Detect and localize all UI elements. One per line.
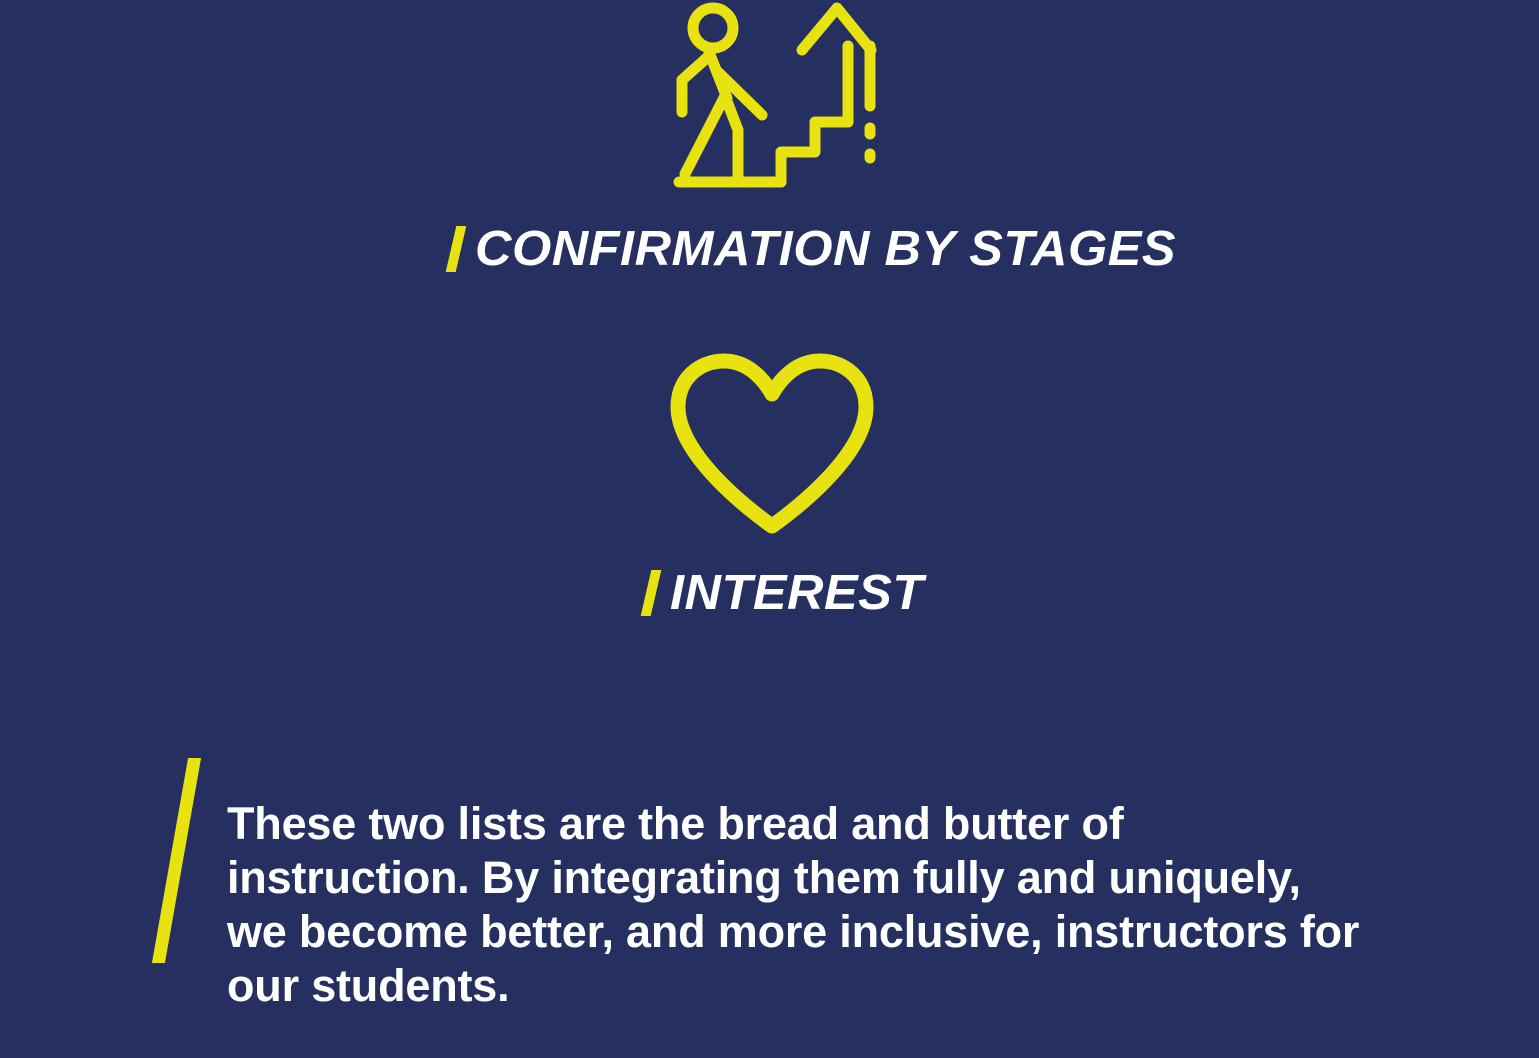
body-paragraph-text: These two lists are the bread and butter… (227, 797, 1367, 1013)
section-heading-stages: CONFIRMATION BY STAGES (451, 224, 1156, 274)
body-paragraph-block: These two lists are the bread and butter… (150, 752, 1400, 1058)
slash-marker-icon (641, 570, 662, 616)
slide-canvas: CONFIRMATION BY STAGES INTEREST These tw… (0, 0, 1539, 1020)
section-heading-interest: INTEREST (646, 568, 916, 618)
section-heading-label: CONFIRMATION BY STAGES (475, 224, 1176, 274)
section-heading-label: INTEREST (670, 568, 924, 618)
walking-person-stairs-arrow-icon (665, 2, 880, 194)
slash-marker-icon (152, 758, 201, 963)
heart-outline-icon (668, 352, 876, 538)
slash-marker-icon (446, 226, 467, 272)
